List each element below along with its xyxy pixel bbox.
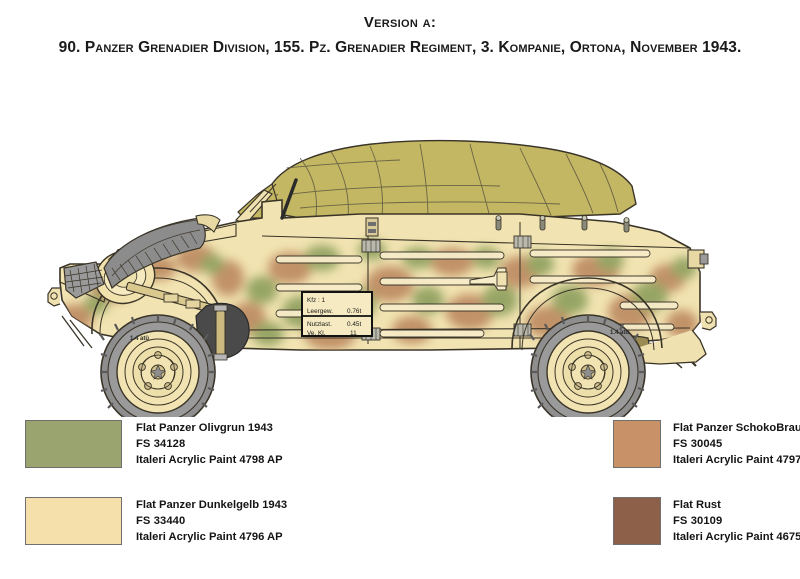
paint-name: Flat Rust [673, 498, 800, 514]
paint-product-code: Italeri Acrylic Paint 4797 AP [673, 453, 800, 469]
paint-legend-left-column: Flat Panzer Olivgrun 1943 FS 34128 Itale… [25, 420, 375, 573]
paint-product-code: Italeri Acrylic Paint 4675 AP [673, 530, 800, 546]
paint-name: Flat Panzer Dunkelgelb 1943 [136, 498, 287, 514]
legend-text-olivgrun: Flat Panzer Olivgrun 1943 FS 34128 Itale… [136, 420, 283, 469]
plate-row-2-label: Nutzlast. [307, 321, 332, 328]
legend-item-rust: Flat Rust FS 30109 Italeri Acrylic Paint… [613, 497, 800, 546]
paint-product-code: Italeri Acrylic Paint 4798 AP [136, 453, 283, 469]
swatch-rust [613, 497, 661, 545]
page-header: Version A: 90. Panzer Grenadier Division… [0, 14, 800, 57]
version-label: Version A: [0, 14, 800, 32]
paint-fs-code: FS 30045 [673, 437, 800, 453]
legend-item-olivgrun: Flat Panzer Olivgrun 1943 FS 34128 Itale… [25, 420, 375, 469]
paint-name: Flat Panzer SchokoBraun [673, 421, 800, 437]
paint-product-code: Italeri Acrylic Paint 4796 AP [136, 530, 287, 546]
swatch-olivgrun [25, 420, 122, 468]
paint-fs-code: FS 33440 [136, 514, 287, 530]
swatch-dunkelgelb [25, 497, 122, 545]
swatch-schokobraun [613, 420, 661, 468]
plate-row-1-label: Leergew. [307, 308, 333, 315]
paint-fs-code: FS 30109 [673, 514, 800, 530]
plate-row-0-label: Kfz : 1 [307, 297, 326, 304]
plate-row-2-value: 0.45t [347, 321, 361, 328]
legend-item-dunkelgelb: Flat Panzer Dunkelgelb 1943 FS 33440 Ita… [25, 497, 375, 546]
vehicle-illustration: Kfz : 1 Leergew. 0.76t Nutzlast. 0.45t V… [0, 72, 800, 417]
paint-legend: Flat Panzer Olivgrun 1943 FS 34128 Itale… [0, 420, 800, 575]
plate-row-1-value: 0.76t [347, 308, 361, 315]
rear-tire-pressure-marking: 1.4 atü [610, 330, 629, 336]
legend-text-rust: Flat Rust FS 30109 Italeri Acrylic Paint… [673, 497, 800, 546]
legend-text-dunkelgelb: Flat Panzer Dunkelgelb 1943 FS 33440 Ita… [136, 497, 287, 546]
paint-fs-code: FS 34128 [136, 437, 283, 453]
paint-name: Flat Panzer Olivgrun 1943 [136, 421, 283, 437]
legend-item-schokobraun: Flat Panzer SchokoBraun FS 30045 Italeri… [613, 420, 800, 469]
unit-description: 90. Panzer Grenadier Division, 155. Pz. … [0, 39, 800, 57]
front-tire-pressure-marking: 1.4 atü [130, 336, 149, 342]
legend-text-schokobraun: Flat Panzer SchokoBraun FS 30045 Italeri… [673, 420, 800, 469]
vehicle-data-plate: Kfz : 1 Leergew. 0.76t Nutzlast. 0.45t V… [302, 292, 372, 337]
canvas-soft-top [238, 141, 636, 218]
plate-row-3-value: 11 [350, 330, 357, 337]
paint-legend-right-column: Flat Panzer SchokoBraun FS 30045 Italeri… [613, 420, 800, 573]
plate-row-3-label: Ve. Kl. [307, 330, 326, 337]
